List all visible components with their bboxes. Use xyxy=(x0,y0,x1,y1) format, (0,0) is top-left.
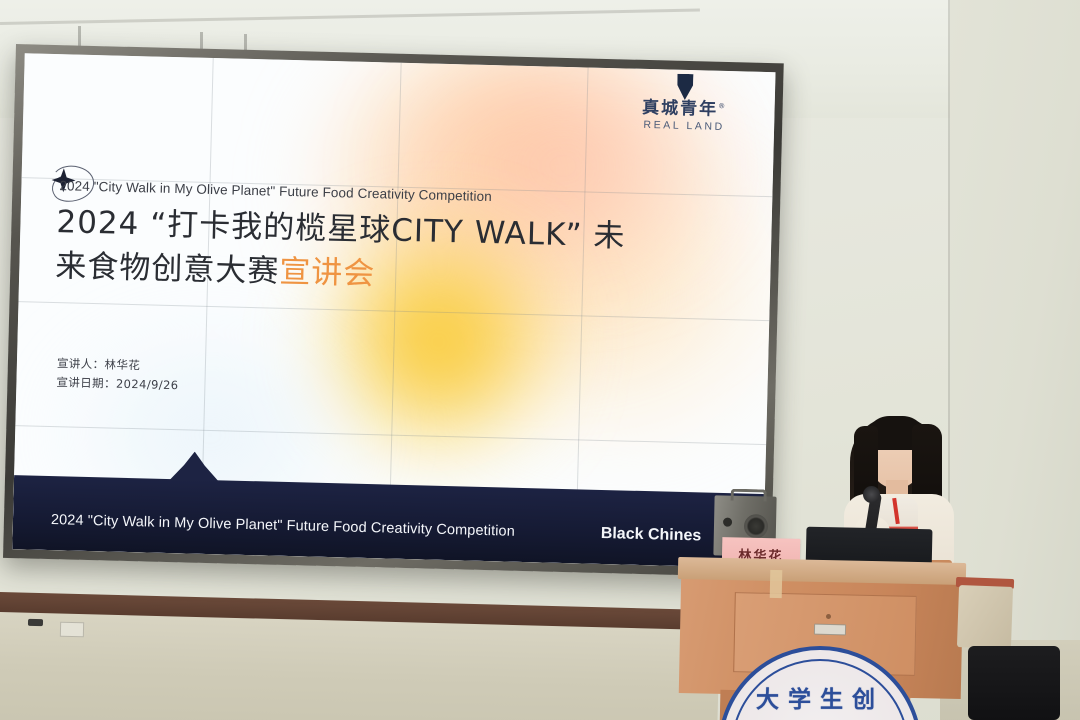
video-wall-bezel: 真城青年® REAL LAND 2024 "City Walk in My Ol… xyxy=(3,44,784,577)
slide-headline: 2024 “打卡我的榄星球CITY WALK” 未 来食物创意大赛宣讲会 xyxy=(55,200,697,304)
presenter-line: 宣讲人：林华花 xyxy=(57,354,180,376)
amplifier-knob[interactable] xyxy=(723,518,732,527)
date-line: 宣讲日期：2024/9/26 xyxy=(56,373,179,395)
emblem-text: 大学生创 xyxy=(722,680,918,714)
brand-logo: 真城青年® REAL LAND xyxy=(614,72,755,133)
chair xyxy=(968,646,1060,720)
registered-mark-icon: ® xyxy=(718,102,727,110)
footer-text-right: Black Chines xyxy=(601,525,702,546)
slide-footer-band: 2024 "City Walk in My Olive Planet" Futu… xyxy=(12,475,765,568)
podium-keyhole-icon xyxy=(826,614,831,619)
podium-drawer-handle[interactable] xyxy=(814,624,846,636)
podium-tape xyxy=(770,570,783,598)
presentation-scene: 真城青年® REAL LAND 2024 "City Walk in My Ol… xyxy=(0,0,1080,720)
wall-outlet xyxy=(60,622,84,638)
wall-fixture xyxy=(28,619,43,626)
floor xyxy=(0,612,720,720)
side-object xyxy=(957,585,1013,649)
headline-accent: 宣讲会 xyxy=(279,254,376,292)
slide-meta: 宣讲人：林华花 宣讲日期：2024/9/26 xyxy=(56,354,179,394)
amplifier-speaker-grille xyxy=(744,514,768,538)
podium: 大学生创 xyxy=(678,560,978,720)
video-wall-screen[interactable]: 真城青年® REAL LAND 2024 "City Walk in My Ol… xyxy=(12,53,775,568)
footer-text-left: 2024 "City Walk in My Olive Planet" Futu… xyxy=(51,512,515,540)
droplet-mark-icon xyxy=(677,74,694,100)
amplifier-handle xyxy=(731,489,767,502)
presentation-slide: 真城青年® REAL LAND 2024 "City Walk in My Ol… xyxy=(12,53,775,568)
headline-line-2-main: 来食物创意大赛 xyxy=(55,248,280,290)
brand-logo-cn: 真城青年® xyxy=(614,99,754,120)
